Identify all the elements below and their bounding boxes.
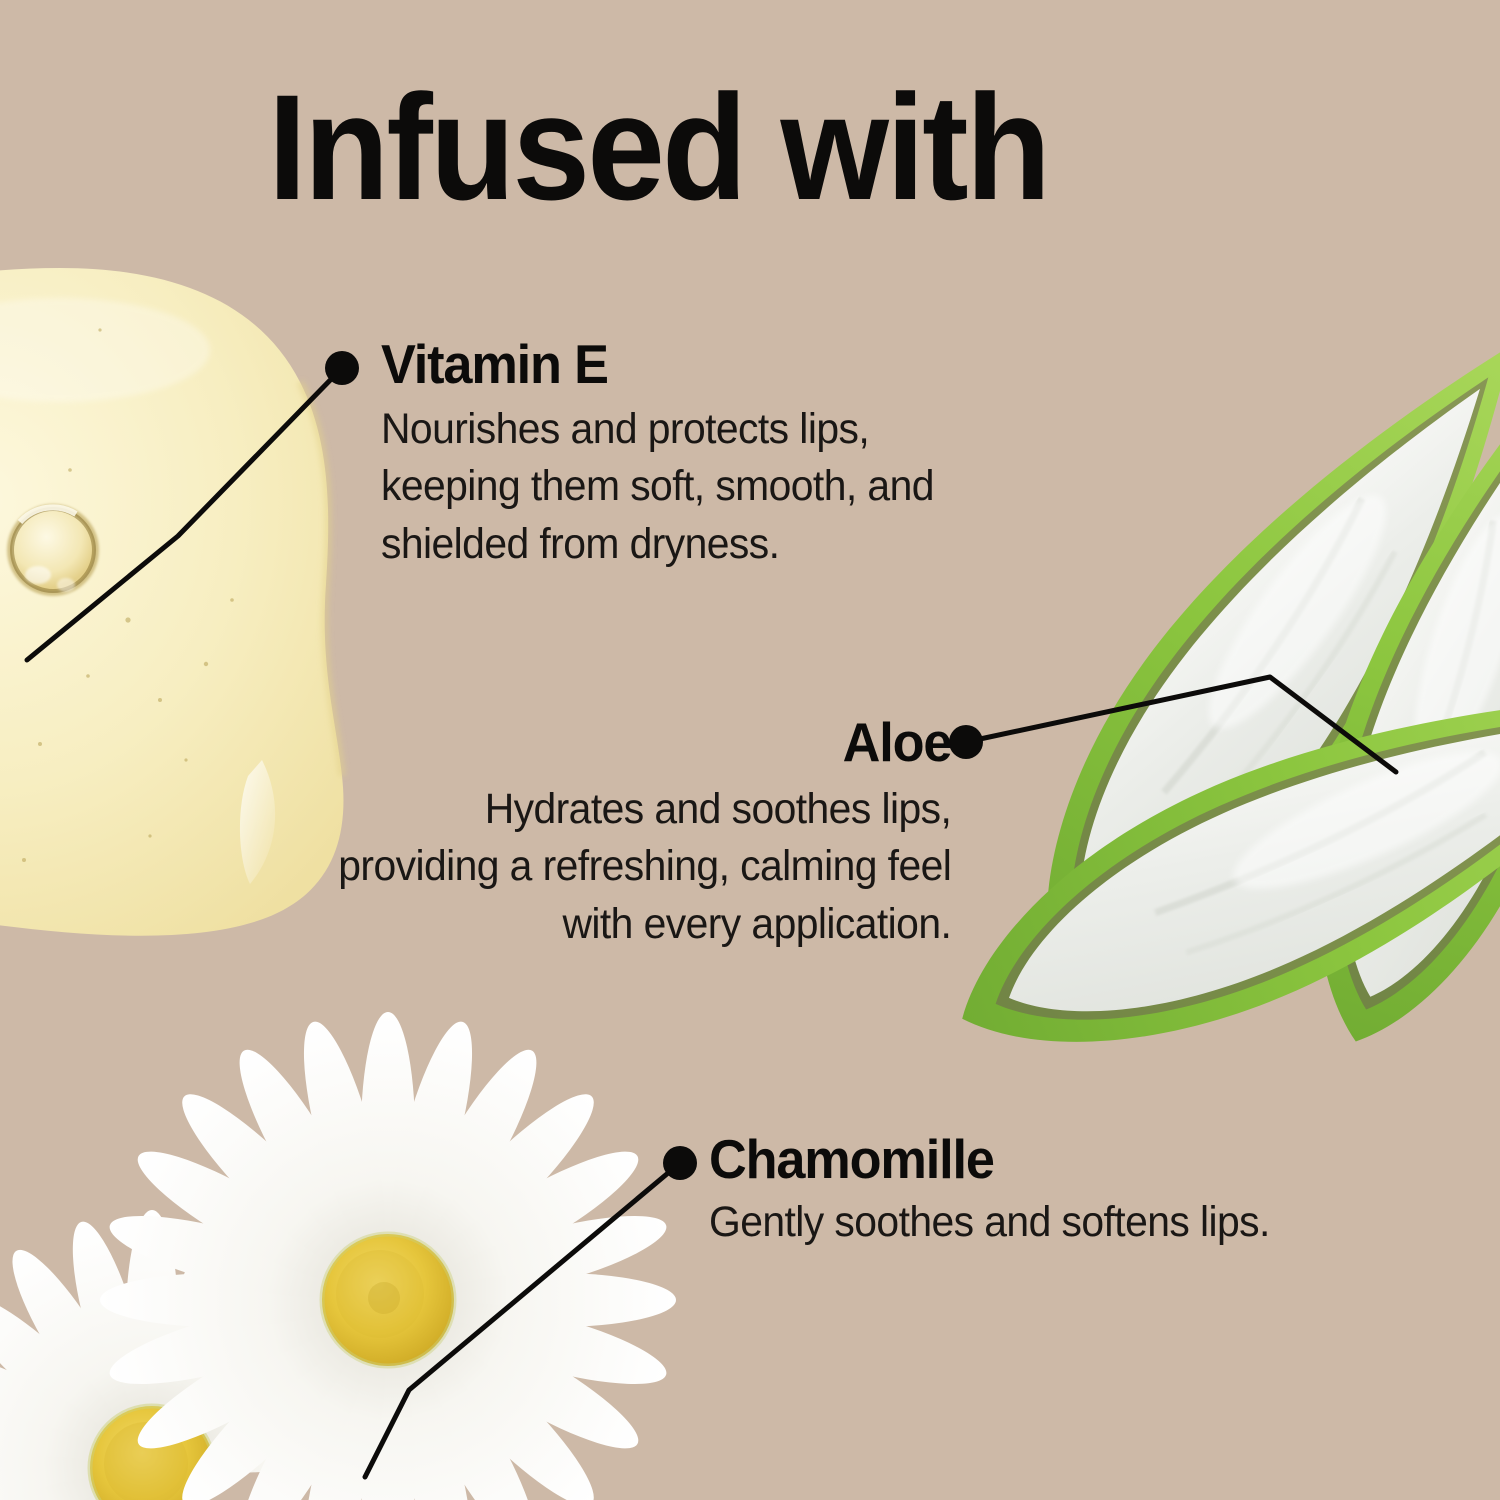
page-title: Infused with	[268, 72, 1048, 222]
infographic-canvas: Infused with Vitamin E Nourishes and pro…	[0, 0, 1500, 1500]
ingredient-description-aloe: Hydrates and soothes lips, providing a r…	[338, 781, 951, 953]
description-line: keeping them soft, smooth, and	[381, 458, 934, 515]
description-line: Nourishes and protects lips,	[381, 401, 934, 458]
ingredient-name-chamomille: Chamomille	[709, 1130, 1270, 1188]
ingredient-description-vitamin-e: Nourishes and protects lips, keeping the…	[381, 401, 934, 573]
ingredient-block-aloe: Aloe Hydrates and soothes lips, providin…	[306, 713, 951, 953]
ingredient-block-vitamin-e: Vitamin E Nourishes and protects lips, k…	[381, 335, 963, 573]
description-line: shielded from dryness.	[381, 516, 934, 573]
ingredient-name-aloe: Aloe	[338, 713, 951, 771]
description-line: Hydrates and soothes lips,	[338, 781, 951, 838]
ingredient-name-vitamin-e: Vitamin E	[381, 335, 934, 393]
ingredient-block-chamomille: Chamomille Gently soothes and softens li…	[709, 1130, 1299, 1251]
description-line: Gently soothes and softens lips.	[709, 1194, 1270, 1251]
description-line: with every application.	[338, 896, 951, 953]
ingredient-description-chamomille: Gently soothes and softens lips.	[709, 1194, 1270, 1251]
description-line: providing a refreshing, calming feel	[338, 838, 951, 895]
